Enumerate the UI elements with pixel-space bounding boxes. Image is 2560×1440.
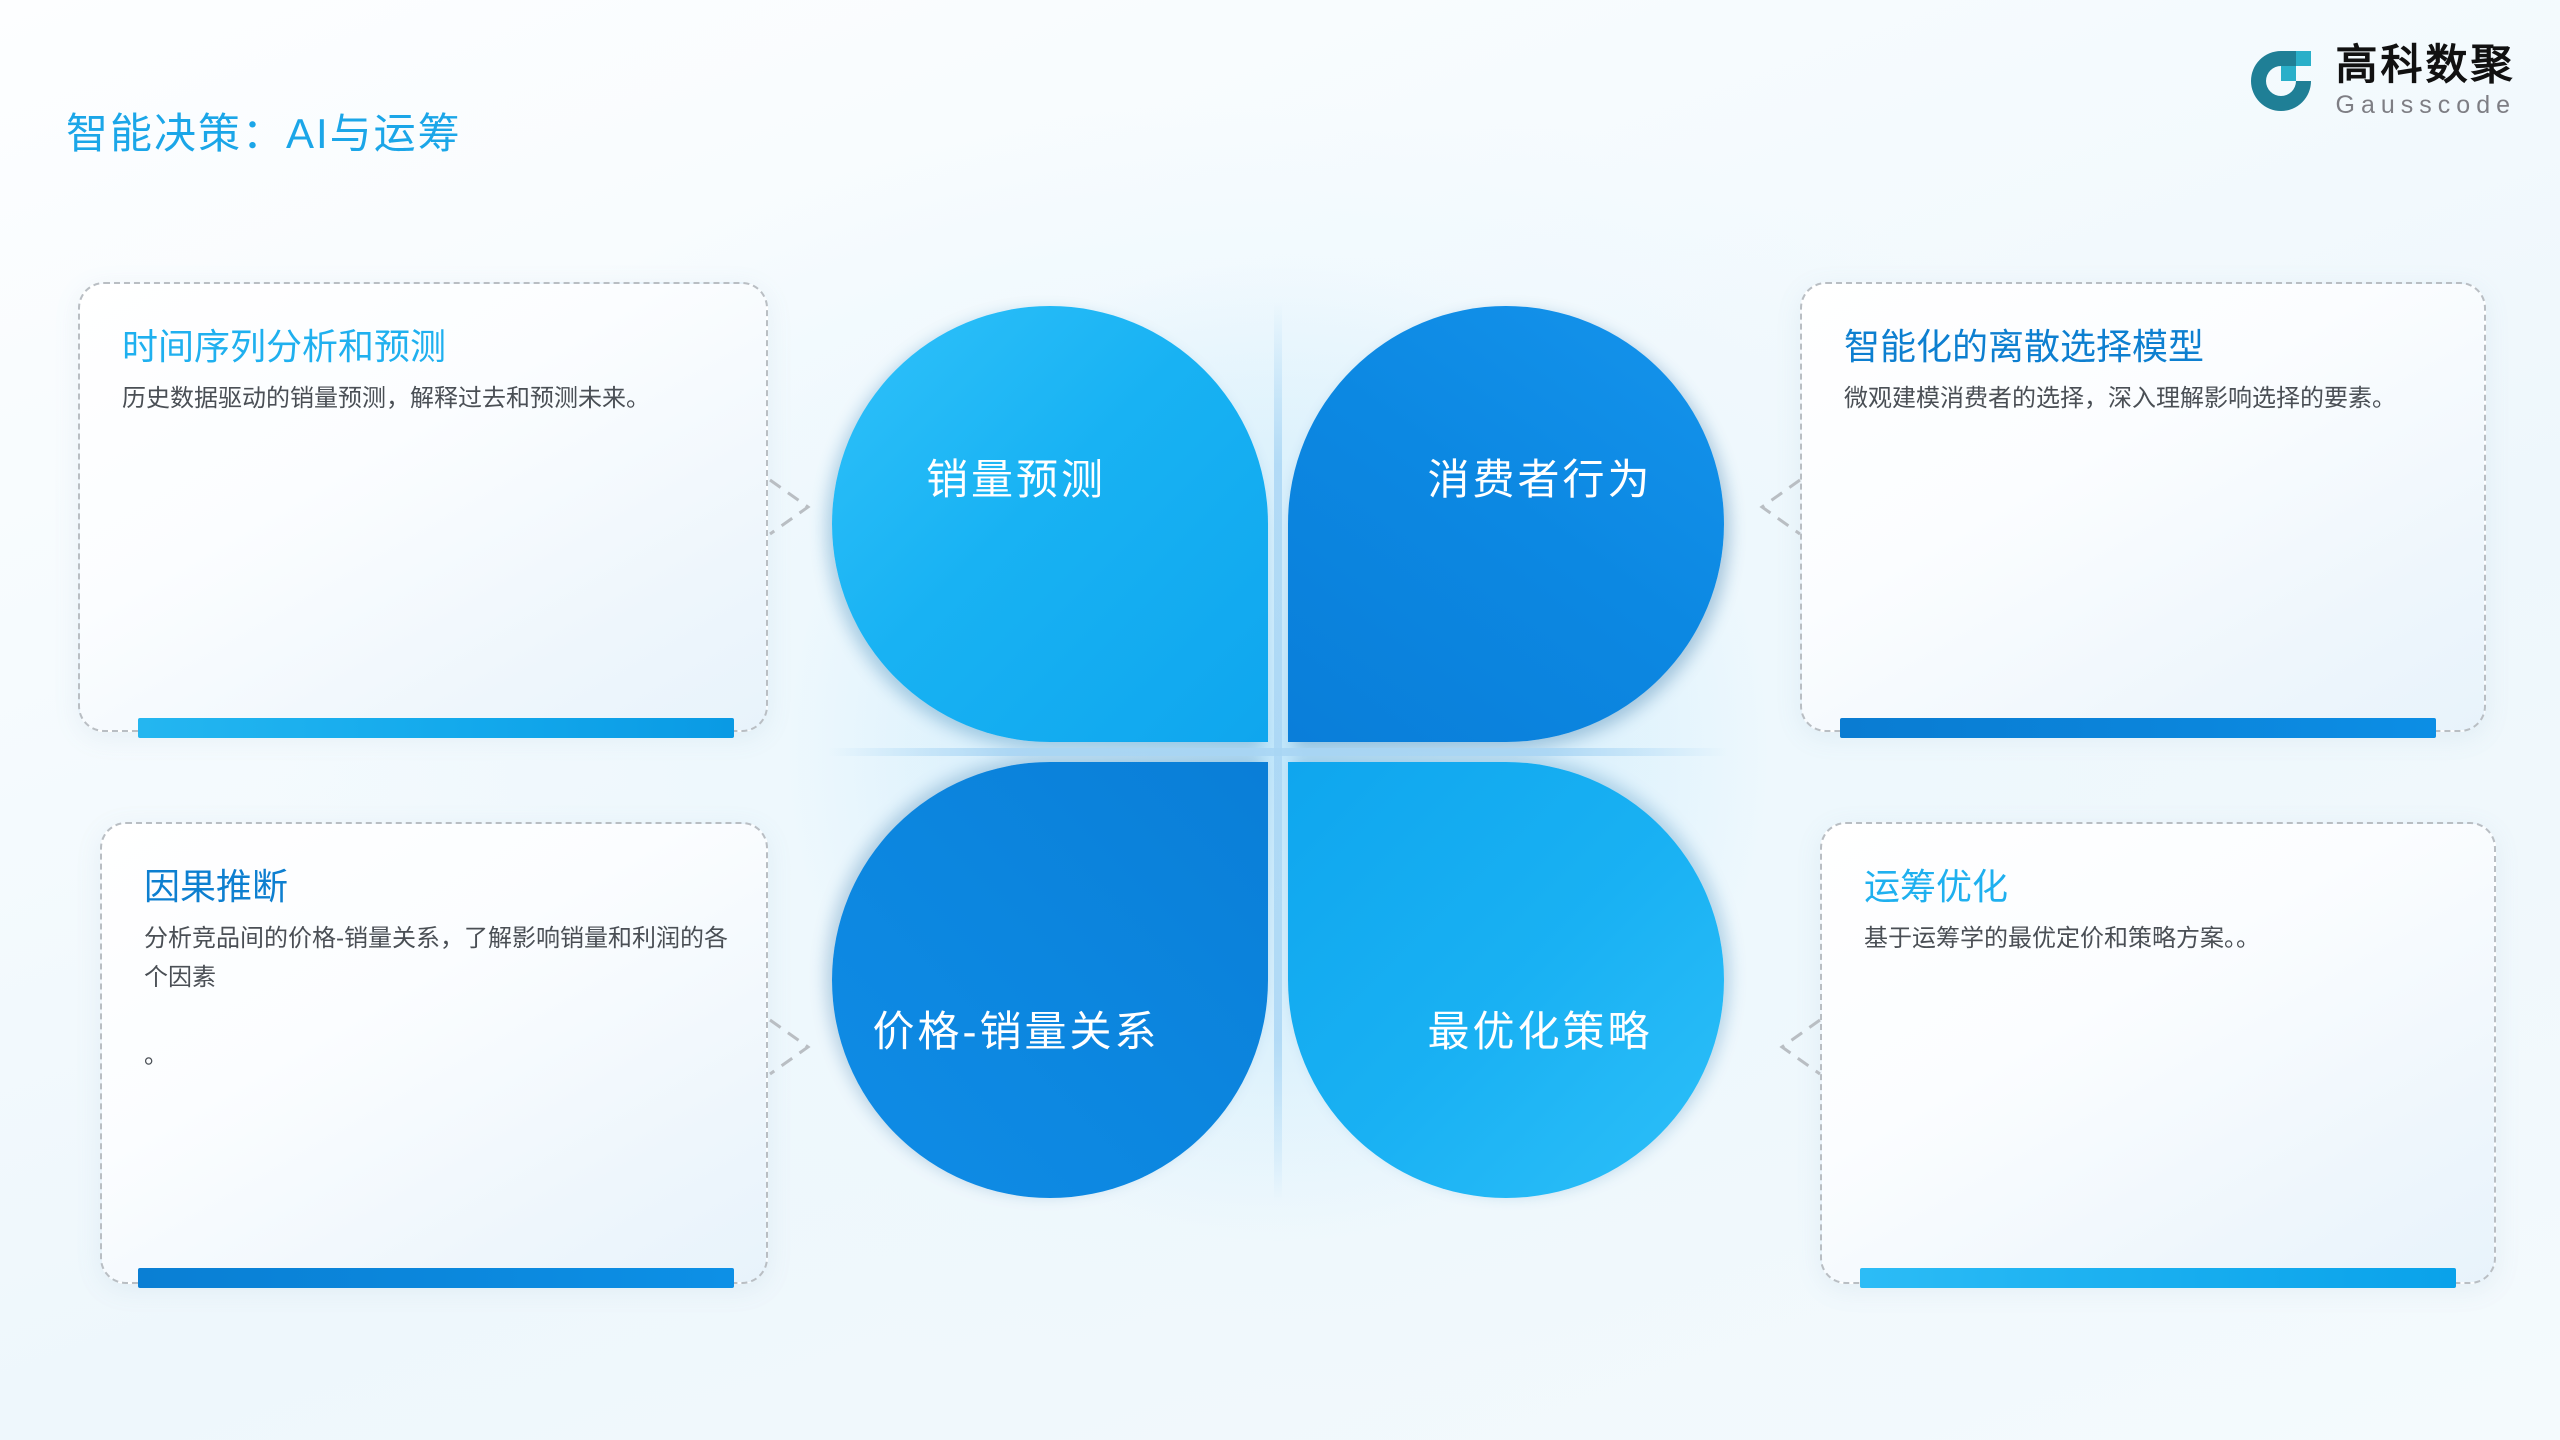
petal-label: 消费者行为: [1427, 446, 1652, 507]
card-title: 时间序列分析和预测: [122, 318, 446, 370]
slide-canvas: 智能决策：AI与运筹 高科数聚 Gausscode 时间序列分析和预测 历史数据…: [0, 0, 2560, 1440]
card-title: 运筹优化: [1864, 858, 2008, 910]
petal-price-sales-relation[interactable]: 价格-销量关系: [832, 762, 1268, 1198]
connector-chevron-right-icon: [768, 1016, 814, 1078]
gausscode-logo-mark-icon: [2244, 44, 2318, 118]
brand-logo: 高科数聚 Gausscode: [2244, 44, 2516, 118]
connector-chevron-left-icon: [1756, 476, 1802, 538]
card-body: 分析竞品间的价格-销量关系，了解影响销量和利润的各个因素 。: [144, 920, 732, 1076]
page-title: 智能决策：AI与运筹: [66, 100, 462, 161]
card-body: 基于运筹学的最优定价和策略方案。。: [1864, 920, 2460, 959]
petal-label: 最优化策略: [1427, 998, 1652, 1059]
card-operations-research[interactable]: 运筹优化 基于运筹学的最优定价和策略方案。。: [1820, 822, 2496, 1284]
petal-optimal-strategy[interactable]: 最优化策略: [1288, 762, 1724, 1198]
card-accent-bar-time-series: [138, 718, 734, 738]
card-accent-bar-discrete-choice: [1840, 718, 2436, 738]
logo-text-en: Gausscode: [2336, 93, 2516, 118]
petal-label: 价格-销量关系: [873, 998, 1160, 1059]
card-title: 因果推断: [144, 858, 288, 910]
clover-seam-vertical: [1274, 302, 1282, 1202]
petal-label: 销量预测: [926, 446, 1106, 507]
petal-sales-forecast[interactable]: 销量预测: [832, 306, 1268, 742]
card-time-series[interactable]: 时间序列分析和预测 历史数据驱动的销量预测，解释过去和预测未来。: [78, 282, 768, 732]
card-accent-bar-operations-research: [1860, 1268, 2456, 1288]
card-title: 智能化的离散选择模型: [1844, 318, 2204, 370]
card-body: 历史数据驱动的销量预测，解释过去和预测未来。: [122, 380, 732, 419]
petal-consumer-behavior[interactable]: 消费者行为: [1288, 306, 1724, 742]
card-accent-bar-causal-inference: [138, 1268, 734, 1288]
card-causal-inference[interactable]: 因果推断 分析竞品间的价格-销量关系，了解影响销量和利润的各个因素 。: [100, 822, 768, 1284]
connector-chevron-left-icon: [1776, 1016, 1822, 1078]
card-body: 微观建模消费者的选择，深入理解影响选择的要素。: [1844, 380, 2450, 419]
card-discrete-choice[interactable]: 智能化的离散选择模型 微观建模消费者的选择，深入理解影响选择的要素。: [1800, 282, 2486, 732]
logo-text-cn: 高科数聚: [2336, 44, 2516, 86]
connector-chevron-right-icon: [768, 476, 814, 538]
clover-diagram: 销量预测 消费者行为 价格-销量关系 最优化策略: [828, 302, 1728, 1202]
